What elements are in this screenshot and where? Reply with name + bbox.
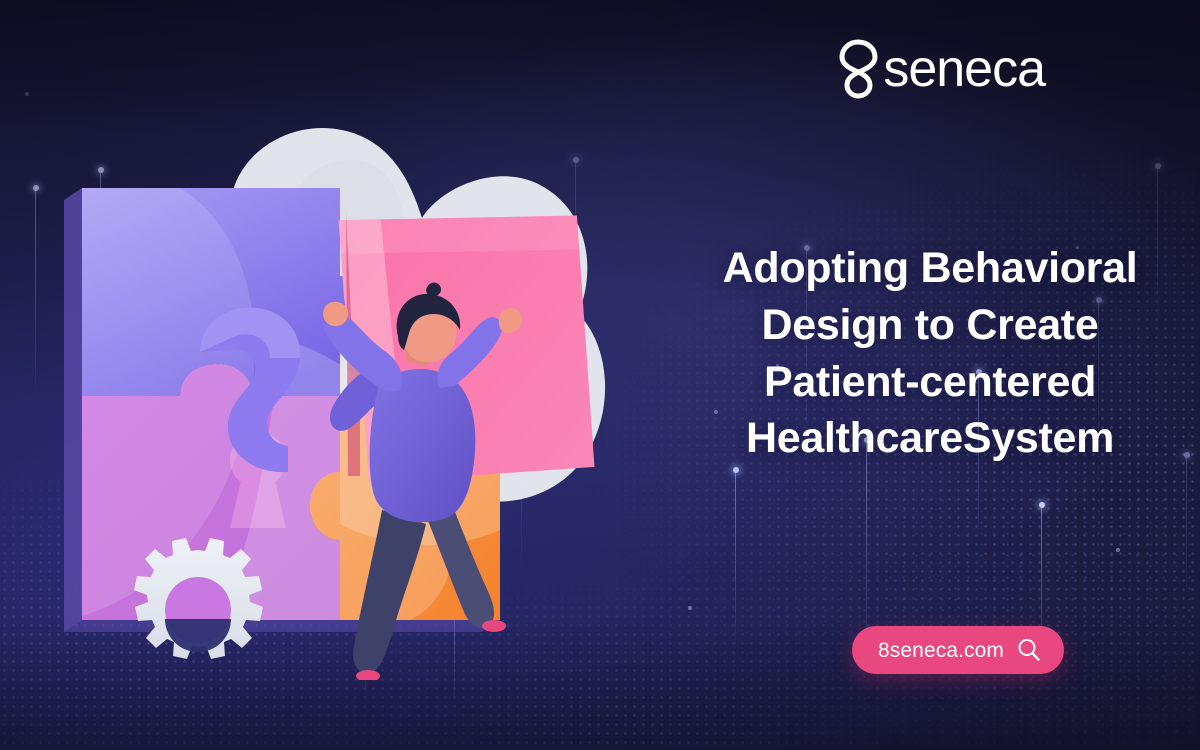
figure-eight-infinity-icon — [837, 38, 879, 100]
search-icon — [1016, 637, 1042, 663]
headline-line-2: Design to Create — [690, 297, 1170, 354]
headline-line-3: Patient-centered — [690, 354, 1170, 411]
banner-canvas: seneca Adopting Behavioral Design to Cre… — [0, 0, 1200, 750]
headline-line-1: Adopting Behavioral — [690, 240, 1170, 297]
page-title: Adopting Behavioral Design to Create Pat… — [690, 240, 1170, 467]
website-url-label: 8seneca.com — [878, 640, 1004, 661]
brand-logo[interactable]: seneca — [837, 38, 1045, 100]
logo-wordmark: seneca — [883, 43, 1045, 95]
puzzle-assembly-illustration — [30, 100, 650, 680]
website-cta-badge[interactable]: 8seneca.com — [852, 626, 1064, 674]
headline-line-4: HealthcareSystem — [690, 410, 1170, 467]
gear-icon — [134, 538, 263, 659]
